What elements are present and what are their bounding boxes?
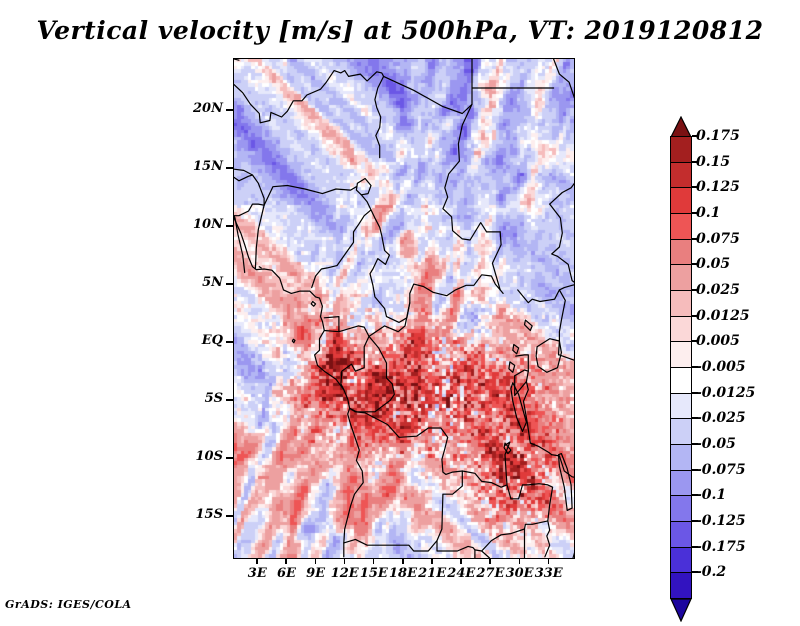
map-plot-area [233,58,575,559]
map-boundary-path [234,175,253,181]
colorbar-swatch [670,470,692,497]
y-axis-tick [226,341,233,343]
y-axis-label: 5N [171,275,223,290]
colorbar-tick [692,289,698,291]
colorbar-label: -0.175 [696,539,746,555]
colorbar-swatch [670,290,692,317]
colorbar-tick [692,392,698,394]
y-axis-label: 5S [171,391,223,406]
colorbar-label: -0.075 [696,462,746,478]
colorbar-swatch [670,547,692,574]
colorbar-tick [692,366,698,368]
colorbar-swatch [670,162,692,189]
map-boundary-path [384,76,472,113]
colorbar-label: 0.1 [696,205,720,221]
colorbar-swatch [670,187,692,214]
colorbar-label: -0.0125 [696,385,755,401]
colorbar-swatch [670,367,692,394]
y-axis-label: EQ [171,333,223,348]
x-axis-tick [373,558,375,564]
colorbar-top-arrow [670,116,692,137]
map-boundary-path [234,59,239,60]
colorbar-swatch [670,264,692,291]
y-axis-tick [226,167,233,169]
colorbar-swatch [670,136,692,163]
y-axis-label: 15N [171,159,223,174]
x-axis-tick [519,558,521,564]
x-axis-tick [256,558,258,564]
colorbar-label: 0.005 [696,333,740,349]
map-boundary-path [554,59,574,204]
map-boundaries-overlay [234,59,574,558]
colorbar-tick [692,161,698,163]
colorbar-swatch [670,316,692,343]
page-title: Vertical velocity [m/s] at 500hPa, VT: 2… [0,16,800,45]
map-boundary-path [513,345,519,354]
colorbar-swatch [670,393,692,420]
colorbar-tick [692,212,698,214]
map-boundary-path [559,290,565,341]
x-axis-tick [402,558,404,564]
map-boundary-path [312,195,371,288]
colorbar-label: -0.125 [696,513,746,529]
map-boundary-path [472,59,554,88]
map-boundary-path [573,551,574,558]
colorbar-swatch [670,239,692,266]
map-boundary-path [234,218,363,557]
colorbar-label: -0.025 [696,410,746,426]
x-axis-label: 33E [527,566,571,581]
grads-plot-page: Vertical velocity [m/s] at 500hPa, VT: 2… [0,0,800,618]
y-axis-tick [226,515,233,517]
map-boundary-path [524,382,552,455]
colorbar-tick [692,494,698,496]
map-boundary-path [515,355,529,376]
map-boundary-path [234,169,264,205]
colorbar-label: 0.05 [696,256,730,272]
y-axis-tick [226,457,233,459]
map-boundary-path [443,104,500,240]
x-axis-tick [285,558,287,564]
map-boundary-path [344,408,463,551]
y-axis-label: 10N [171,217,223,232]
colorbar-label: -0.1 [696,487,726,503]
footer-credit: GrADS: IGES/COLA [5,598,132,611]
map-boundary-path [255,205,264,269]
map-boundary-path [234,204,264,216]
colorbar-tick [692,546,698,548]
colorbar-tick [692,417,698,419]
colorbar [670,58,692,562]
x-axis-tick [344,558,346,564]
colorbar-tick [692,520,698,522]
map-boundary-path [550,129,574,205]
y-axis-label: 15S [171,507,223,522]
colorbar-tick [692,315,698,317]
colorbar-tick [692,340,698,342]
colorbar-tick [692,263,698,265]
colorbar-tick [692,469,698,471]
colorbar-swatch [670,572,692,599]
colorbar-tick [692,571,698,573]
map-boundary-path [482,551,490,558]
map-boundary-path [292,339,295,342]
colorbar-label: 0.025 [696,282,740,298]
colorbar-swatch [670,213,692,240]
colorbar-swatch [670,521,692,548]
y-axis-tick [226,109,233,111]
map-boundary-path [345,71,384,158]
x-axis-tick [548,558,550,564]
colorbar-label: 0.15 [696,154,730,170]
map-boundary-path [437,471,553,551]
colorbar-tick [692,443,698,445]
colorbar-label: -0.005 [696,359,746,375]
colorbar-swatch [670,418,692,445]
colorbar-label: 0.175 [696,128,740,144]
x-axis-tick [489,558,491,564]
colorbar-swatch [670,444,692,471]
colorbar-swatch [670,341,692,368]
colorbar-label: -0.05 [696,436,736,452]
y-axis-tick [226,283,233,285]
y-axis-label: 10S [171,449,223,464]
map-boundary-path [350,336,395,411]
y-axis-tick [226,225,233,227]
x-axis-tick [315,558,317,564]
map-boundary-path [259,267,261,268]
x-axis-tick [431,558,433,564]
map-boundary-path [545,521,550,557]
x-axis-tick [460,558,462,564]
map-boundary-path [525,320,533,330]
colorbar-label: -0.2 [696,564,726,580]
colorbar-swatch [670,495,692,522]
map-boundary-path [324,331,339,332]
map-boundary-path [324,317,369,390]
y-axis-tick [226,399,233,401]
map-boundary-path [559,454,573,511]
map-boundary-path [234,216,245,273]
map-boundary-path [550,204,574,284]
colorbar-label: 0.125 [696,179,740,195]
map-boundary-path [509,362,515,372]
map-boundary-path [234,71,345,123]
colorbar-label: 0.0125 [696,308,750,324]
y-axis-label: 20N [171,101,223,116]
colorbar-label: 0.075 [696,231,740,247]
colorbar-tick [692,238,698,240]
map-boundary-path [264,186,356,206]
colorbar-tick [692,186,698,188]
map-boundary-path [356,179,371,195]
map-boundary-path [536,339,561,373]
map-boundary-path [311,302,315,307]
colorbar-tick [692,135,698,137]
colorbar-bottom-arrow [670,598,692,622]
